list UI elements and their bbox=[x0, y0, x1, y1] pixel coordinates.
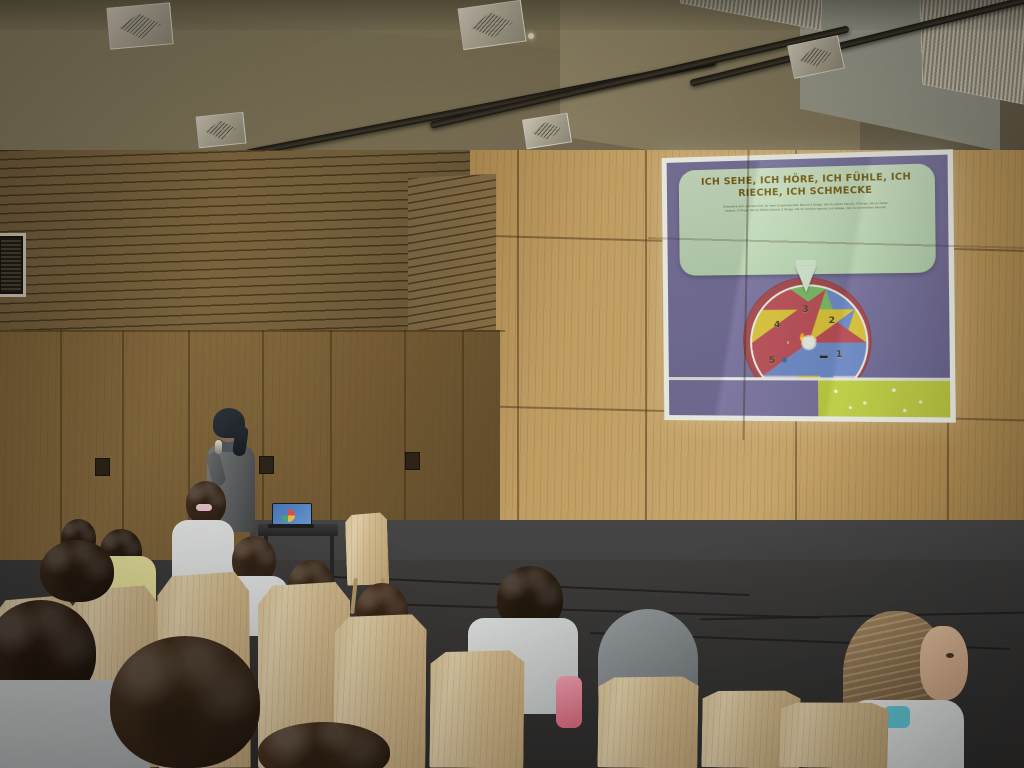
wall-divider-line bbox=[0, 330, 505, 332]
chair-front-9[interactable] bbox=[779, 701, 888, 768]
slide-body: ICH SEHE, ICH HÖRE, ICH FÜHLE, ICH RIECH… bbox=[667, 155, 951, 418]
wheel-number-4: 4 bbox=[774, 320, 781, 330]
wheel-hub bbox=[802, 336, 815, 348]
air-diffuser-3 bbox=[195, 112, 246, 149]
projected-slide: ICH SEHE, ICH HÖRE, ICH FÜHLE, ICH RIECH… bbox=[662, 149, 956, 422]
laptop[interactable] bbox=[268, 503, 312, 527]
wheel-number-2: 2 bbox=[829, 315, 836, 325]
eye-icon: ◉ bbox=[781, 356, 788, 364]
air-diffuser-2 bbox=[457, 0, 526, 50]
sense-wheel: 1 2 3 4 5 ▬ ● ✋ ◖ ◉ bbox=[742, 276, 872, 383]
empty-chair-back[interactable] bbox=[345, 512, 389, 585]
mouth-icon: ▬ bbox=[820, 352, 828, 360]
wheel-pointer bbox=[795, 266, 816, 293]
audience-head-front-2 bbox=[110, 636, 260, 768]
photo-scene: ICH SEHE, ICH HÖRE, ICH FÜHLE, ICH RIECH… bbox=[0, 0, 1024, 768]
slide-frame: ICH SEHE, ICH HÖRE, ICH FÜHLE, ICH RIECH… bbox=[662, 149, 956, 422]
upper-wall-slats bbox=[0, 150, 470, 355]
wheel-number-3: 3 bbox=[802, 304, 809, 314]
slide-title-line-2: RIECHE, ICH SCHMECKE bbox=[738, 185, 872, 201]
ceiling-spot-light bbox=[528, 33, 534, 39]
audience-girl-eye bbox=[946, 653, 954, 658]
wall-vent-grille bbox=[0, 233, 26, 297]
audience-girl-face bbox=[920, 626, 968, 700]
microphone-icon bbox=[215, 440, 222, 454]
chair-front-6[interactable] bbox=[429, 650, 524, 768]
wheel-number-1: 1 bbox=[836, 349, 843, 359]
slide-bottom-band bbox=[669, 377, 951, 417]
wall-socket-3 bbox=[405, 452, 420, 470]
laptop-slide-thumbnail bbox=[281, 509, 295, 522]
wall-socket-2 bbox=[259, 456, 274, 474]
audience-pink-bag bbox=[556, 676, 582, 728]
ear-icon: ◖ bbox=[785, 338, 790, 346]
chair-front-7[interactable] bbox=[597, 675, 698, 768]
air-diffuser-1 bbox=[106, 2, 173, 49]
wheel-number-5: 5 bbox=[769, 356, 776, 366]
audience-head-front-3 bbox=[40, 540, 114, 602]
slide-bottom-dots bbox=[818, 381, 951, 418]
laptop-base bbox=[268, 524, 314, 528]
hair-scrunchie bbox=[196, 504, 212, 511]
wall-socket-1 bbox=[95, 458, 110, 476]
